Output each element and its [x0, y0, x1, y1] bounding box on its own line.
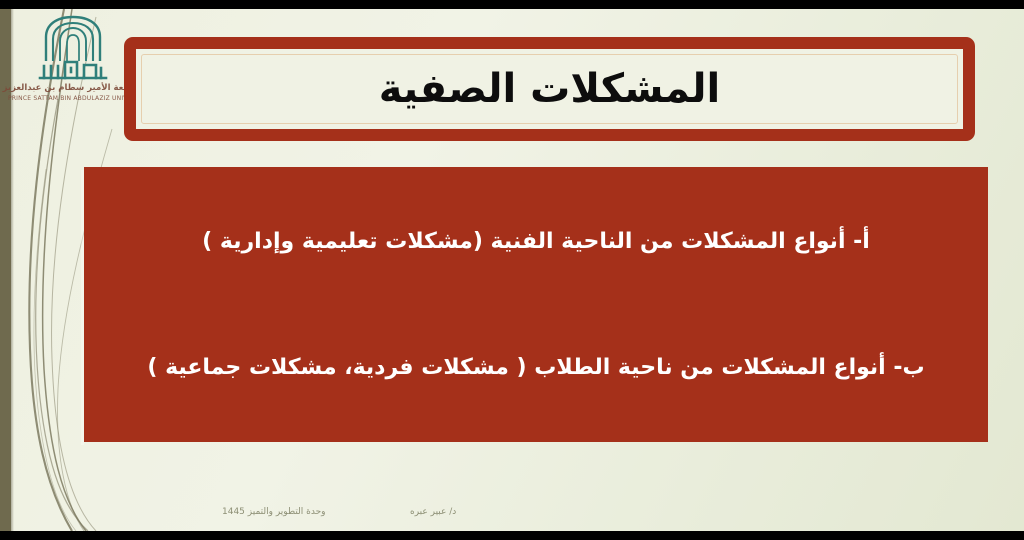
logo-caption-english: PRINCE SATTAM BIN ABDULAZIZ UNIVERSITY	[8, 95, 138, 102]
slide-root: جامعة الأمير سطام بن عبدالعزيز PRINCE SA…	[0, 0, 1024, 540]
logo-wordmark-kufic	[38, 57, 108, 81]
slide-canvas: جامعة الأمير سطام بن عبدالعزيز PRINCE SA…	[0, 9, 1024, 531]
page-title: المشكلات الصفية	[379, 67, 721, 111]
letterbox-bar-top	[0, 0, 1024, 9]
university-logo: جامعة الأمير سطام بن عبدالعزيز PRINCE SA…	[8, 13, 136, 109]
footer-unit: وحدة التطوير والتميز 1445	[222, 507, 326, 517]
logo-caption-arabic: جامعة الأمير سطام بن عبدالعزيز	[8, 83, 138, 93]
content-line-b: ب- أنواع المشكلات من ناحية الطلاب ( مشكل…	[102, 353, 970, 383]
arch-logo-icon	[42, 15, 104, 61]
footer-author: د/ عبير عبره	[410, 507, 456, 517]
content-line-a: أ- أنواع المشكلات من الناحية الفنية (مشك…	[102, 227, 970, 257]
content-box: أ- أنواع المشكلات من الناحية الفنية (مشك…	[84, 167, 988, 442]
slide-footer: د/ عبير عبره وحدة التطوير والتميز 1445	[0, 504, 1024, 530]
letterbox-bar-bottom	[0, 531, 1024, 540]
title-box: المشكلات الصفية	[124, 37, 975, 141]
